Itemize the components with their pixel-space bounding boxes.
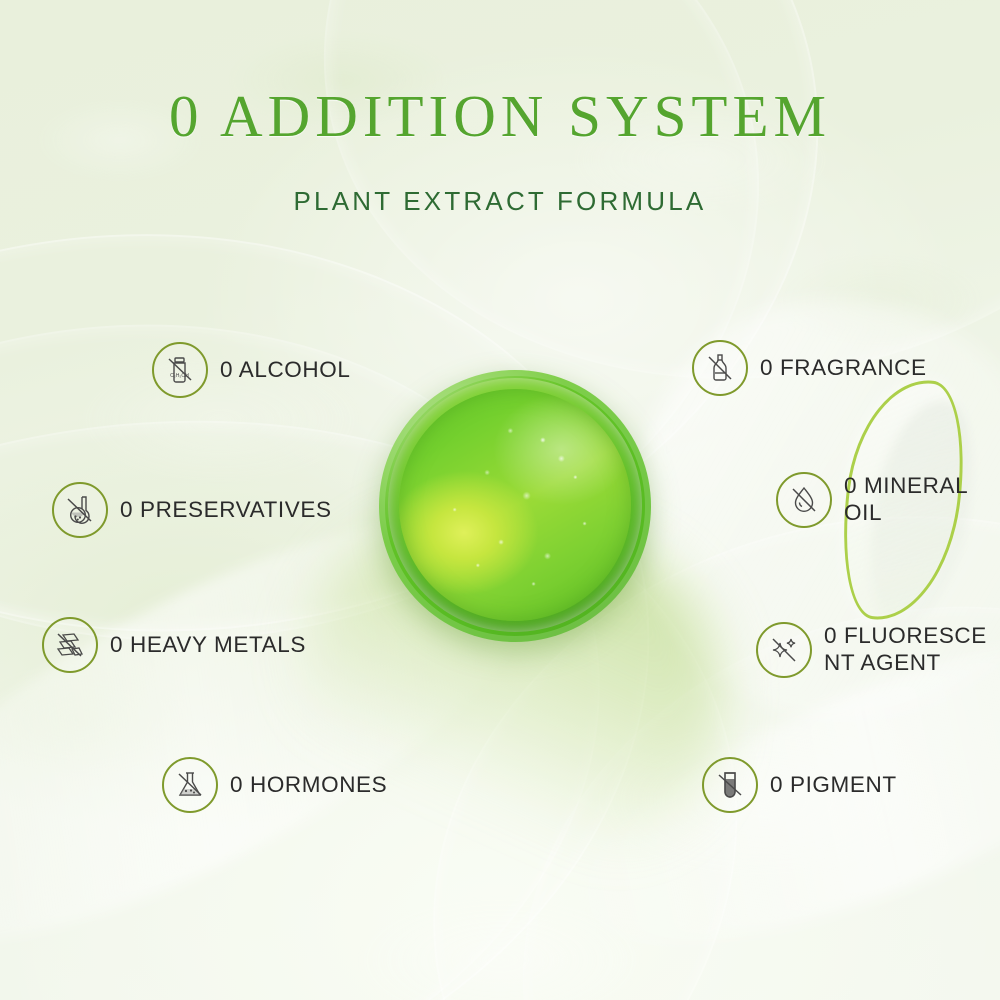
product-poster: 0 ADDITION SYSTEM PLANT EXTRACT FORMULA … <box>0 0 1000 1000</box>
no-hormones-flask-icon <box>162 757 218 813</box>
no-heavy-metals-bars-icon <box>42 617 98 673</box>
feature-fragrance: 0 FRAGRANCE <box>692 340 927 396</box>
no-fluorescent-sparkle-icon <box>756 622 812 678</box>
page-subtitle: PLANT EXTRACT FORMULA <box>0 186 1000 217</box>
no-mineral-oil-droplet-icon <box>776 472 832 528</box>
aloe-gel-content <box>399 389 631 621</box>
no-fragrance-bottle-icon <box>692 340 748 396</box>
feature-preservatives: 0 PRESERVATIVES <box>52 482 332 538</box>
no-alcohol-bottle-icon: C₂H₅OH <box>152 342 208 398</box>
feature-hormones: 0 HORMONES <box>162 757 387 813</box>
feature-pigment: 0 PIGMENT <box>702 757 897 813</box>
feature-alcohol: C₂H₅OH 0 ALCOHOL <box>152 342 350 398</box>
feature-label: 0 PRESERVATIVES <box>120 497 332 524</box>
page-title: 0 ADDITION SYSTEM <box>0 82 1000 151</box>
feature-label: 0 FRAGRANCE <box>760 355 927 382</box>
feature-label: 0 MINERAL OIL <box>844 473 1000 526</box>
feature-label: 0 FLUORESCE NT AGENT <box>824 623 987 676</box>
feature-heavy-metals: 0 HEAVY METALS <box>42 617 306 673</box>
feature-label: 0 HORMONES <box>230 772 387 799</box>
feature-mineral-oil: 0 MINERAL OIL <box>776 472 1000 528</box>
feature-fluorescent-agent: 0 FLUORESCE NT AGENT <box>756 622 987 678</box>
feature-label: 0 HEAVY METALS <box>110 632 306 659</box>
feature-label: 0 PIGMENT <box>770 772 897 799</box>
no-preservatives-flask-icon <box>52 482 108 538</box>
no-pigment-test-tube-icon <box>702 757 758 813</box>
feature-label: 0 ALCOHOL <box>220 357 350 384</box>
